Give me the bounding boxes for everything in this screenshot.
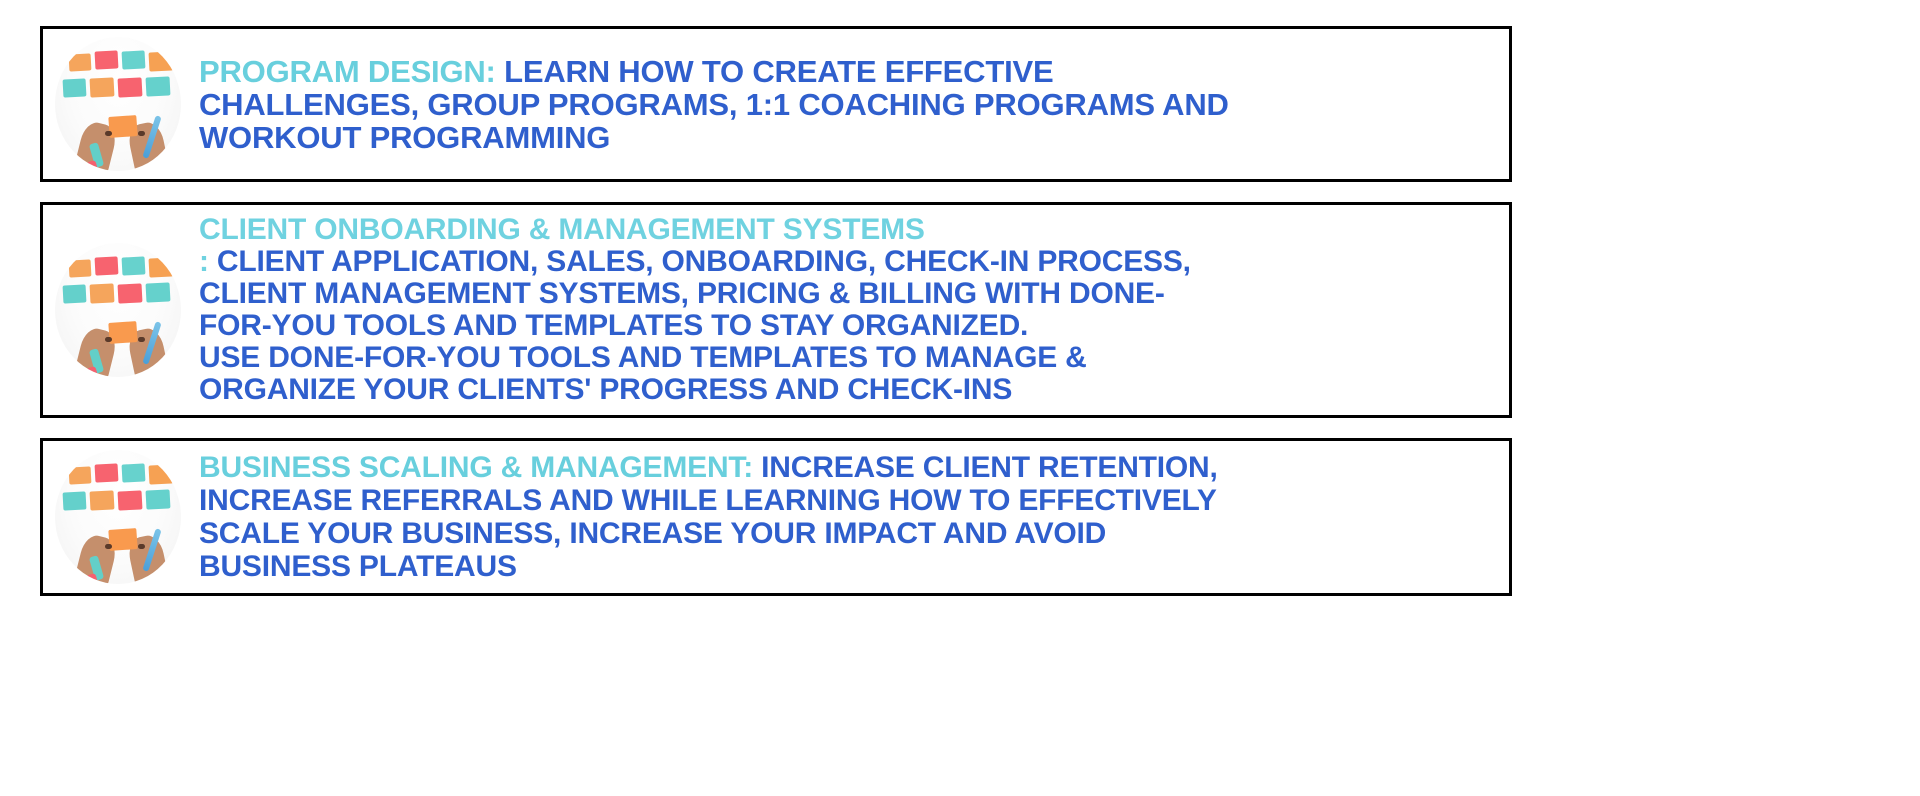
sticky-note: [63, 284, 87, 303]
fingernail: [138, 337, 145, 342]
panel-line: CLIENT MANAGEMENT SYSTEMS, PRICING & BIL…: [199, 278, 1509, 310]
feature-panel-program-design: PROGRAM DESIGN: LEARN HOW TO CREATE EFFE…: [40, 26, 1512, 182]
sticky-note: [118, 283, 143, 303]
panel-line: INCREASE REFERRALS AND WHILE LEARNING HO…: [199, 484, 1509, 517]
panel-line-body: ORGANIZE YOUR CLIENTS' PROGRESS AND CHEC…: [199, 373, 1012, 406]
sticky-note-held: [108, 528, 137, 551]
sticky-note: [149, 257, 174, 277]
panel-line-body: CHALLENGES, GROUP PROGRAMS, 1:1 COACHING…: [199, 87, 1229, 122]
sticky-note: [149, 51, 174, 71]
page-root: PROGRAM DESIGN: LEARN HOW TO CREATE EFFE…: [0, 0, 1920, 796]
sticky-notes-planning-photo-2: [55, 243, 181, 377]
panel-copy-1: PROGRAM DESIGN: LEARN HOW TO CREATE EFFE…: [193, 55, 1509, 154]
feature-panel-business-scaling: BUSINESS SCALING & MANAGEMENT: INCREASE …: [40, 438, 1512, 596]
sticky-note: [63, 491, 87, 510]
panel-line-body: SCALE YOUR BUSINESS, INCREASE YOUR IMPAC…: [199, 517, 1106, 550]
sticky-note-held: [108, 321, 137, 344]
fingernail: [138, 544, 145, 549]
sticky-note: [69, 466, 92, 484]
sticky-notes-planning-photo-1: [55, 37, 181, 171]
sticky-note: [146, 76, 171, 96]
sticky-note: [90, 490, 115, 510]
panel-heading-highlight: BUSINESS SCALING & MANAGEMENT:: [199, 451, 753, 484]
panel-line-body: USE DONE-FOR-YOU TOOLS AND TEMPLATES TO …: [199, 341, 1087, 374]
panel-line: WORKOUT PROGRAMMING: [199, 121, 1509, 154]
panel-line-body: INCREASE REFERRALS AND WHILE LEARNING HO…: [199, 484, 1217, 517]
fingernail: [105, 337, 112, 342]
sticky-notes-planning-photo-3: [55, 450, 181, 584]
panel-heading-highlight: CLIENT ONBOARDING & MANAGEMENT SYSTEMS: [199, 213, 925, 246]
panel-thumbnail-wrap-1: [43, 29, 193, 179]
sticky-note: [118, 490, 143, 510]
sticky-note: [122, 256, 146, 275]
panel-line-body: BUSINESS PLATEAUS: [199, 550, 517, 583]
sticky-note: [95, 463, 119, 482]
fingernail: [105, 544, 112, 549]
panel-line: ORGANIZE YOUR CLIENTS' PROGRESS AND CHEC…: [199, 374, 1509, 406]
sticky-note: [146, 489, 171, 509]
panel-line-body: LEARN HOW TO CREATE EFFECTIVE: [496, 54, 1054, 89]
sticky-note: [90, 283, 115, 303]
panel-copy-3: BUSINESS SCALING & MANAGEMENT: INCREASE …: [193, 451, 1509, 583]
panel-line: BUSINESS PLATEAUS: [199, 550, 1509, 583]
panel-copy-2: CLIENT ONBOARDING & MANAGEMENT SYSTEMS :…: [193, 214, 1509, 406]
fingernail: [105, 131, 112, 136]
panel-line: FOR-YOU TOOLS AND TEMPLATES TO STAY ORGA…: [199, 310, 1509, 342]
sticky-note: [122, 50, 146, 69]
feature-panel-stack: PROGRAM DESIGN: LEARN HOW TO CREATE EFFE…: [40, 26, 1512, 616]
feature-panel-client-onboarding: CLIENT ONBOARDING & MANAGEMENT SYSTEMS :…: [40, 202, 1512, 418]
panel-line-body: FOR-YOU TOOLS AND TEMPLATES TO STAY ORGA…: [199, 309, 1028, 342]
panel-line: CLIENT ONBOARDING & MANAGEMENT SYSTEMS: [199, 214, 1509, 246]
panel-line: SCALE YOUR BUSINESS, INCREASE YOUR IMPAC…: [199, 517, 1509, 550]
panel-line: CHALLENGES, GROUP PROGRAMS, 1:1 COACHING…: [199, 88, 1509, 121]
sticky-note: [149, 464, 174, 484]
sticky-note: [95, 50, 119, 69]
sticky-note: [90, 77, 115, 97]
panel-line-body: CLIENT MANAGEMENT SYSTEMS, PRICING & BIL…: [199, 277, 1165, 310]
panel-thumbnail-wrap-3: [43, 441, 193, 593]
panel-line: PROGRAM DESIGN: LEARN HOW TO CREATE EFFE…: [199, 55, 1509, 88]
panel-heading-highlight: :: [199, 245, 209, 278]
sticky-note: [63, 78, 87, 97]
sticky-note: [118, 77, 143, 97]
panel-line: : CLIENT APPLICATION, SALES, ONBOARDING,…: [199, 246, 1509, 278]
panel-line: USE DONE-FOR-YOU TOOLS AND TEMPLATES TO …: [199, 342, 1509, 374]
panel-line-body: INCREASE CLIENT RETENTION,: [753, 451, 1218, 484]
fingernail: [138, 131, 145, 136]
panel-line-body: WORKOUT PROGRAMMING: [199, 120, 610, 155]
panel-line-body: CLIENT APPLICATION, SALES, ONBOARDING, C…: [209, 245, 1191, 278]
panel-heading-highlight: PROGRAM DESIGN:: [199, 54, 496, 89]
panel-thumbnail-wrap-2: [43, 205, 193, 415]
sticky-note-held: [108, 115, 137, 138]
sticky-note: [69, 53, 92, 71]
panel-line: BUSINESS SCALING & MANAGEMENT: INCREASE …: [199, 451, 1509, 484]
sticky-note: [122, 463, 146, 482]
sticky-note: [95, 256, 119, 275]
sticky-note: [69, 259, 92, 277]
sticky-note: [146, 282, 171, 302]
